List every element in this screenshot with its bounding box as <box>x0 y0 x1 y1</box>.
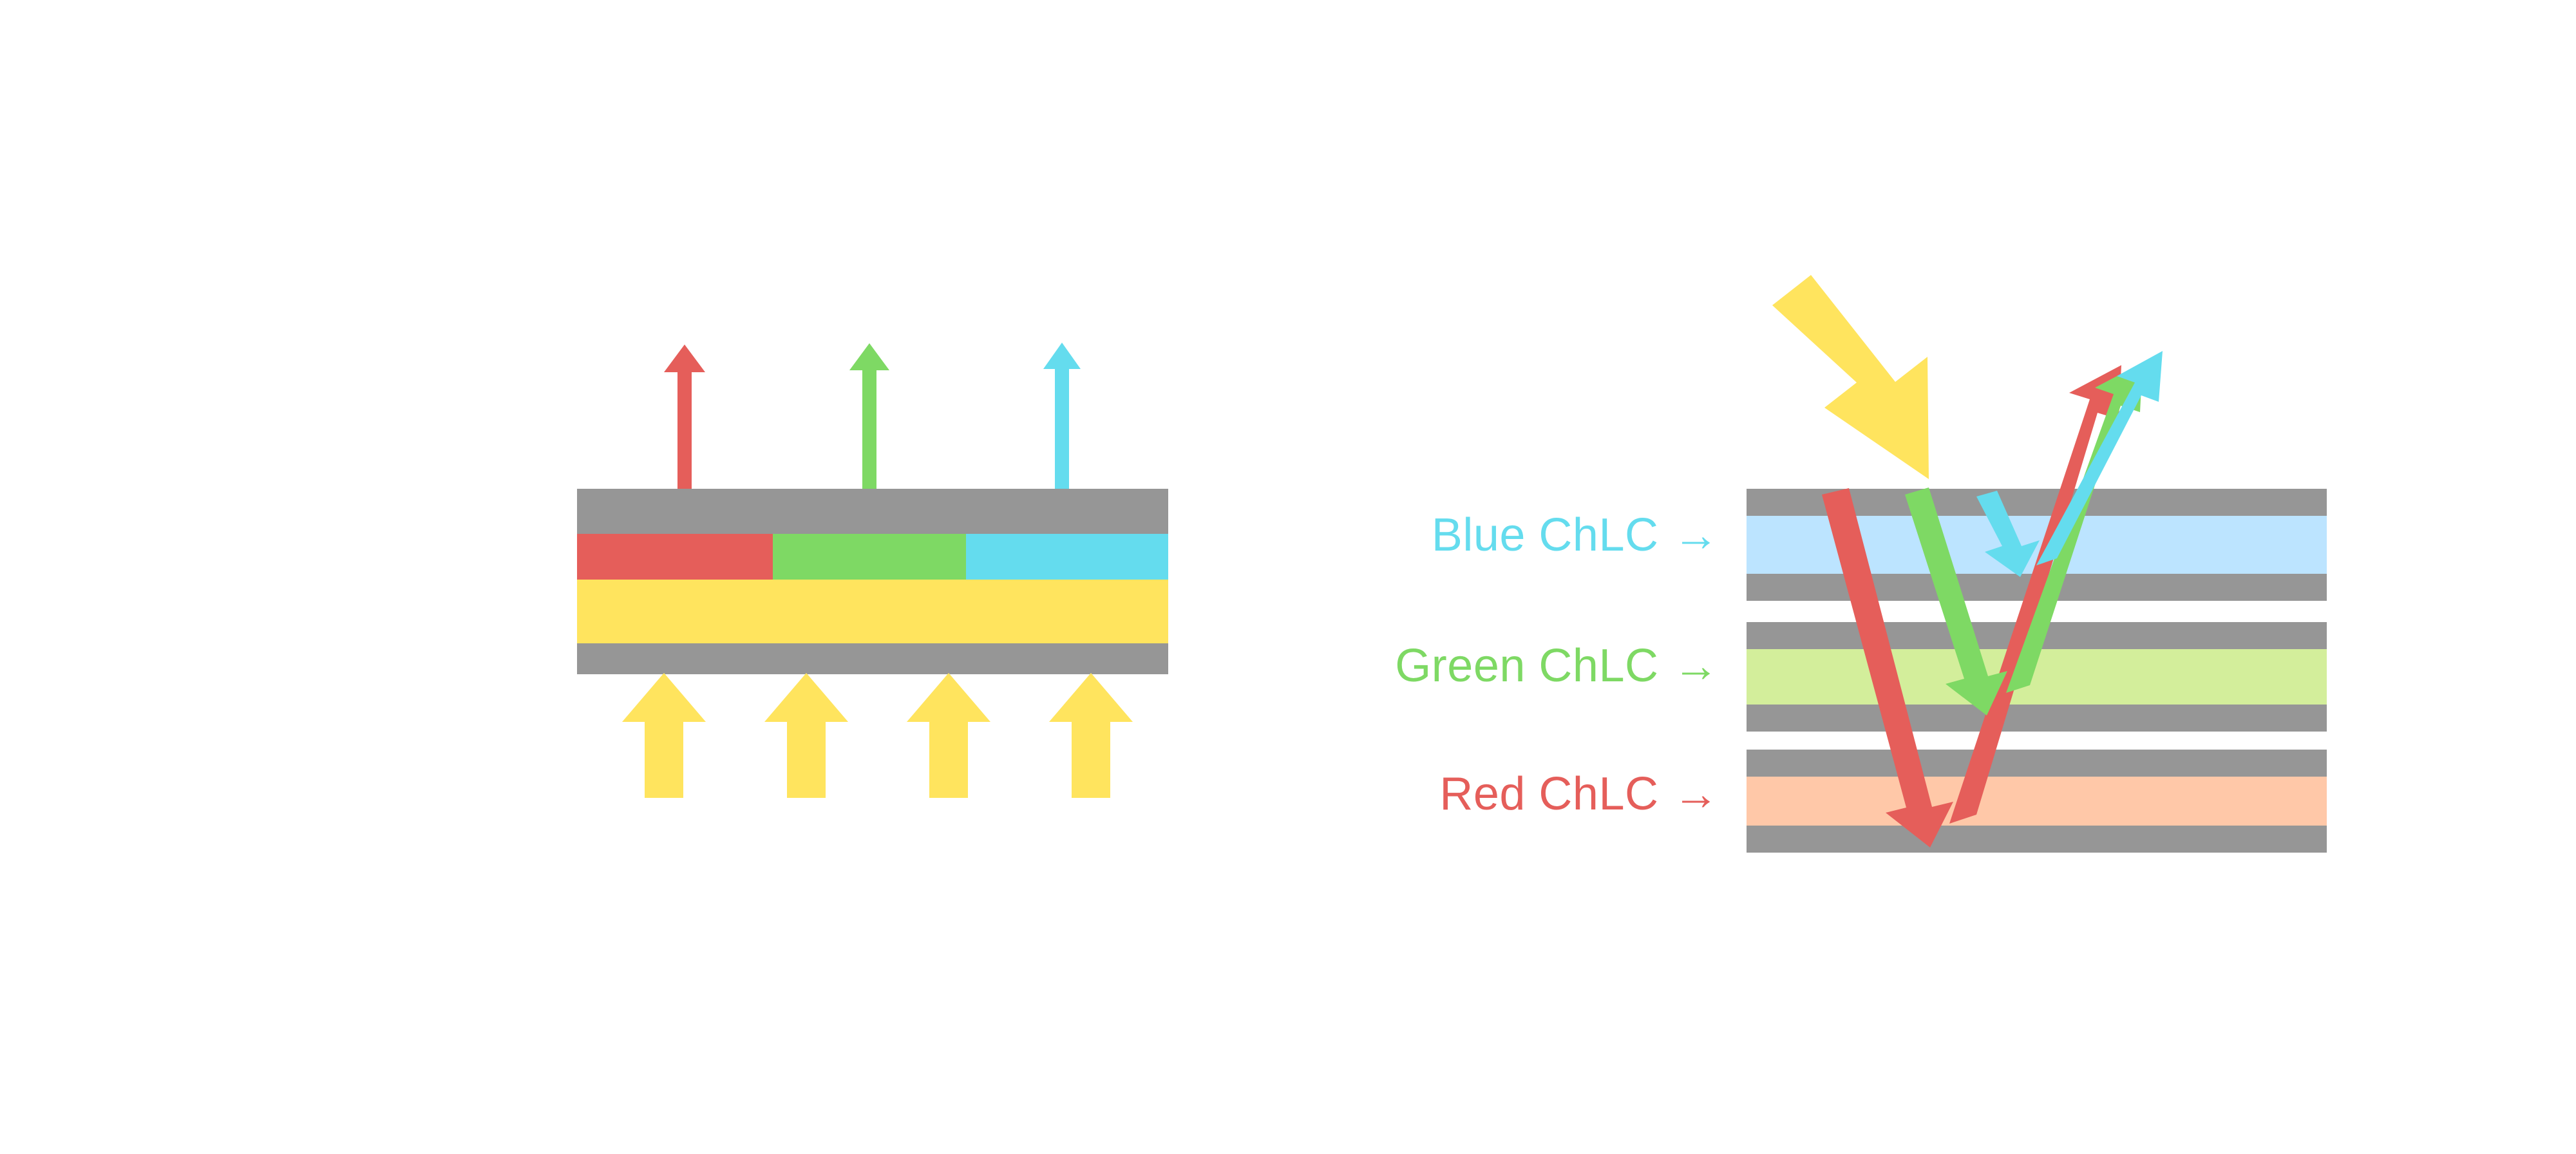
diagram-canvas: Blue ChLC→ Green ChLC→ Red ChLC→ <box>0 0 2576 1154</box>
emit-green-arrow <box>849 343 889 495</box>
backlight-arrow-1 <box>622 673 706 798</box>
green-filter-segment <box>773 534 966 580</box>
backlight-arrow-2 <box>764 673 848 798</box>
label-green-chlc: Green ChLC→ <box>1395 639 1719 692</box>
label-red-chlc-text: Red ChLC <box>1439 768 1658 820</box>
red-chlc-cell <box>1747 750 2327 853</box>
red-cell-bottom-electrode <box>1747 826 2327 853</box>
emit-red-arrow <box>664 345 705 495</box>
ambient-light-in-arrow <box>1772 275 1929 479</box>
label-green-chlc-arrow-icon: → <box>1673 640 1720 692</box>
left-panel-transmissive-stack <box>0 0 1288 1154</box>
green-cell-bottom-electrode <box>1747 705 2327 732</box>
backlight-arrow-3 <box>907 673 990 798</box>
blue-filter-segment <box>966 534 1168 580</box>
label-blue-chlc-arrow-icon: → <box>1673 509 1720 561</box>
yellow-backlight-layer <box>577 580 1168 643</box>
backlight-input-arrows <box>622 673 1133 798</box>
red-filter-segment <box>577 534 773 580</box>
left-layer-stack <box>577 489 1168 674</box>
emit-blue-arrow <box>1043 343 1081 495</box>
emitted-light-arrows <box>664 343 1081 495</box>
backlight-arrow-4 <box>1049 673 1133 798</box>
label-blue-chlc: Blue ChLC→ <box>1432 509 1719 562</box>
label-red-chlc: Red ChLC→ <box>1439 768 1719 820</box>
label-green-chlc-text: Green ChLC <box>1395 640 1658 692</box>
bottom-gray-electrode <box>577 643 1168 674</box>
red-cell-top-electrode <box>1747 750 2327 777</box>
right-panel-chlc-stack <box>1288 0 2576 1154</box>
label-blue-chlc-text: Blue ChLC <box>1432 509 1659 561</box>
label-red-chlc-arrow-icon: → <box>1673 768 1720 820</box>
top-gray-electrode <box>577 489 1168 534</box>
red-chlc-layer <box>1747 777 2327 826</box>
